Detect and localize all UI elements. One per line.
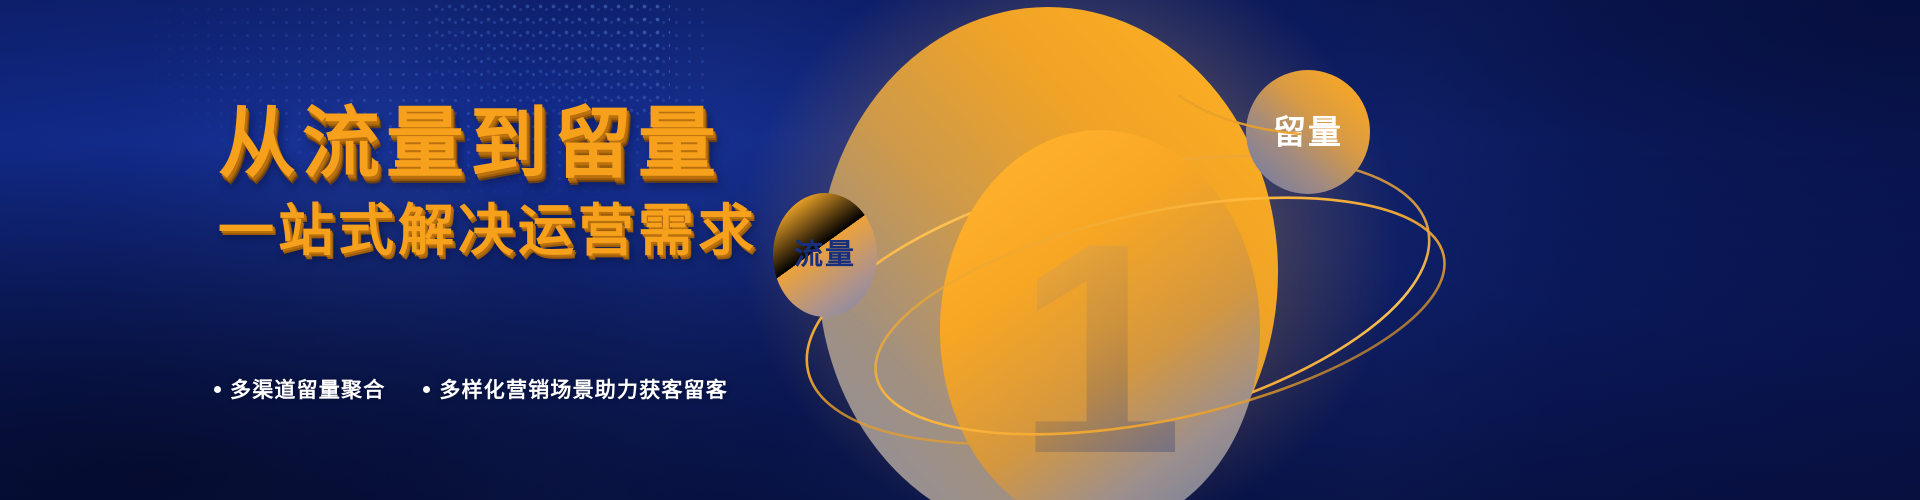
small-sphere-liuliang-label: 流量 bbox=[794, 238, 856, 271]
page-title: 从流量到留量 bbox=[218, 104, 722, 182]
hero-illustration: 流量 1 留量 bbox=[740, 0, 1920, 500]
promo-banner: 从流量到留量 一站式解决运营需求 多渠道留量聚合 多样化营销场景助力获客留客 bbox=[0, 0, 1920, 500]
front-sphere-numeral: 1 bbox=[1017, 180, 1184, 500]
bullet-dot-icon bbox=[423, 386, 430, 393]
bullet-dot-icon bbox=[214, 386, 221, 393]
copy-block: 从流量到留量 一站式解决运营需求 多渠道留量聚合 多样化营销场景助力获客留客 bbox=[0, 0, 760, 500]
list-item: 多样化营销场景助力获客留客 bbox=[423, 374, 728, 404]
list-item-label: 多样化营销场景助力获客留客 bbox=[439, 374, 728, 404]
feature-bullet-list: 多渠道留量聚合 多样化营销场景助力获客留客 bbox=[214, 374, 728, 404]
page-subtitle: 一站式解决运营需求 bbox=[218, 203, 758, 259]
list-item-label: 多渠道留量聚合 bbox=[230, 374, 385, 404]
small-sphere-liuliang: 流量 bbox=[773, 193, 877, 317]
small-sphere-liuliang-retain: 留量 bbox=[1246, 70, 1370, 194]
list-item: 多渠道留量聚合 bbox=[214, 374, 385, 404]
